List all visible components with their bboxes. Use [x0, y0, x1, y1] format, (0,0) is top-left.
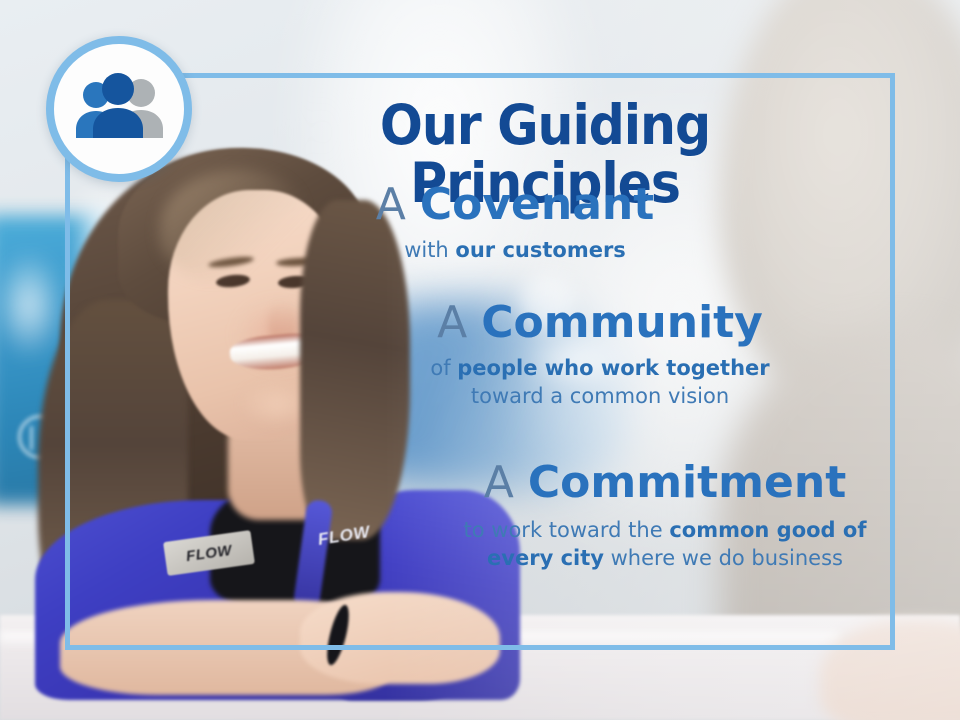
principle-keyword: Community: [481, 297, 763, 348]
subtext-prefix: with: [404, 238, 455, 262]
subtext-line2: toward a common vision: [471, 384, 729, 408]
principle-subtext: of people who work together toward a com…: [400, 355, 800, 411]
principle-article: A: [484, 457, 528, 508]
subtext-emphasis: people who work together: [457, 356, 769, 380]
principle-subtext: to work toward the common good of every …: [450, 517, 880, 573]
principle-covenant: A Covenant with our customers: [335, 182, 695, 265]
principle-keyword: Commitment: [528, 457, 846, 508]
principle-heading: A Commitment: [450, 460, 880, 507]
subtext-prefix: of: [430, 356, 457, 380]
principle-community: A Community of people who work together …: [400, 300, 800, 410]
principle-heading: A Community: [400, 300, 800, 347]
principle-keyword: Covenant: [420, 179, 654, 230]
subtext-emphasis: our customers: [455, 238, 625, 262]
subtext-prefix: to work toward the: [464, 518, 670, 542]
principle-heading: A Covenant: [335, 182, 695, 229]
people-group-icon: [67, 72, 171, 146]
principle-subtext: with our customers: [335, 237, 695, 265]
principle-article: A: [376, 179, 420, 230]
principle-article: A: [437, 297, 481, 348]
subtext-suffix: where we do business: [604, 546, 843, 570]
principle-commitment: A Commitment to work toward the common g…: [450, 460, 880, 572]
people-badge: [46, 36, 192, 182]
